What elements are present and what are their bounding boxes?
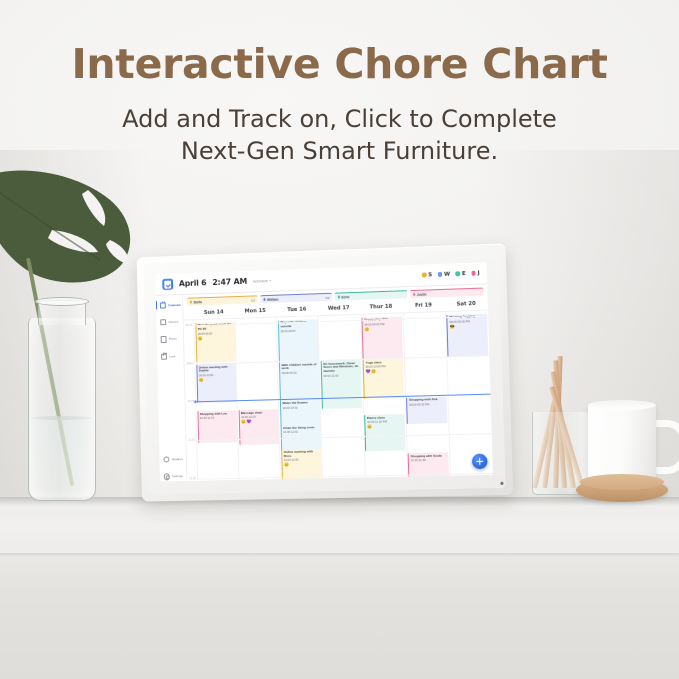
day-column-0[interactable]: Mow the yard, wash the PC-8608:00-09:00😊… xyxy=(193,319,238,481)
member-chip-name: William xyxy=(267,297,278,301)
day-column-2[interactable]: Play with children outside08:00-09:00Wit… xyxy=(276,316,322,479)
member-chip-justin[interactable]: Justin xyxy=(410,288,483,299)
time-label-3: 11:00 xyxy=(189,439,195,442)
event-title: Do housework: Clean floors and Windows, … xyxy=(323,361,359,374)
chevron-down-icon xyxy=(269,280,271,281)
smart-display-device: April 6 2:47 AM Schedule SWEJ CalendarCh… xyxy=(137,243,514,501)
event-time: 09:00-11:00 xyxy=(324,374,360,378)
event-time: 08:00-09:00 xyxy=(281,329,317,334)
sidebar-item-label: Calendar xyxy=(168,303,181,307)
day-header-5[interactable]: Fri 19 xyxy=(402,299,445,312)
basket-icon xyxy=(160,319,166,325)
marketing-subline: Add and Track on, Click to Complete Next… xyxy=(0,104,679,167)
calendar-event[interactable]: Yoga class09:00-10:00 PM💜😊 xyxy=(363,359,404,399)
calendar-event[interactable]: Morning Jogging08:00-09:00 PM😎 xyxy=(447,314,489,357)
app-body: CalendarChoresPhotoListsWeatherSettings … xyxy=(156,284,493,481)
calendar-event[interactable]: Mow the yard, wash the PC-8608:00-09:00😊 xyxy=(195,322,235,363)
calendar-event[interactable]: Massage chair10:30-11:00😊💜 xyxy=(238,409,278,445)
sidebar-item-label: Photo xyxy=(169,337,177,341)
sidebar-spacer xyxy=(157,369,185,447)
photo-icon xyxy=(161,336,167,342)
avatar-s[interactable]: S xyxy=(422,272,432,278)
app-main: Stella1/2William1/2EchoJustin Sun 14Mon … xyxy=(183,284,493,481)
member-chip-echo[interactable]: Echo xyxy=(335,290,407,301)
event-emoji-icon: 😊💜 xyxy=(241,419,276,424)
sidebar-item-settings[interactable]: Settings xyxy=(160,472,187,482)
calendar-check-app-icon[interactable] xyxy=(162,279,173,290)
event-time: 09:00-09:30 xyxy=(282,371,318,375)
vase-rim xyxy=(35,297,89,306)
member-chip-name: Justin xyxy=(417,292,427,296)
event-time: 09:00-09:30 PM xyxy=(409,403,445,407)
lock-list-icon xyxy=(161,353,167,359)
view-selector-label: Schedule xyxy=(253,279,268,283)
day-column-6[interactable]: Morning Jogging08:00-09:00 PM😎 xyxy=(445,310,493,475)
calendar-event[interactable]: Shopping with Ana09:00-09:30 PM xyxy=(406,397,447,424)
avatar-w[interactable]: W xyxy=(438,271,450,277)
sidebar-item-label: Settings xyxy=(172,474,183,478)
calendar-event[interactable]: Online meeting with Sophie09:00-10:00😊 xyxy=(196,364,236,403)
avatar-initial: W xyxy=(444,271,450,277)
calendar-grid: 08:0009:0010:0011:0012:00 Mow the yard, … xyxy=(184,310,493,481)
member-dot-icon xyxy=(263,298,265,300)
calendar-event[interactable]: Play with children outside08:00-09:00 xyxy=(278,319,319,362)
avatar-initial: S xyxy=(428,272,432,278)
event-emoji-icon: 😊 xyxy=(198,335,233,340)
event-time: 10:30-11:00 xyxy=(283,430,319,434)
event-emoji-icon: 😊 xyxy=(199,377,234,382)
sidebar-item-label: Weather xyxy=(172,457,183,461)
time-label-0: 08:00 xyxy=(186,323,193,326)
day-column-5[interactable]: Shopping with Ana09:00-09:30 PMShopping … xyxy=(402,312,449,477)
day-header-2[interactable]: Tue 16 xyxy=(276,303,318,316)
avatar-dot-icon xyxy=(471,271,476,276)
avatar-dot-icon xyxy=(438,272,443,277)
gear-icon xyxy=(164,473,170,479)
product-lifestyle-scene: Interactive Chore Chart Add and Track on… xyxy=(0,0,679,679)
calendar-app: April 6 2:47 AM Schedule SWEJ CalendarCh… xyxy=(155,262,493,481)
time-label-4: 12:00 xyxy=(189,478,196,481)
event-emoji-icon: 😊 xyxy=(365,326,401,331)
member-dot-icon xyxy=(413,293,415,295)
member-chip-progress: 1/2 xyxy=(325,295,329,299)
day-header-3[interactable]: Wed 17 xyxy=(318,302,360,315)
avatar-j[interactable]: J xyxy=(471,270,480,276)
avatar-dot-icon xyxy=(422,273,427,278)
marketing-headline: Interactive Chore Chart xyxy=(0,40,679,88)
avatar-e[interactable]: E xyxy=(456,271,466,277)
sidebar-item-weather[interactable]: Weather xyxy=(159,454,186,464)
event-emoji-icon: 😎 xyxy=(450,324,487,329)
calendar-event[interactable]: Shopping with Lea10:30-11:00 xyxy=(197,410,237,443)
time-label-1: 09:00 xyxy=(187,362,194,365)
subline-line-1: Add and Track on, Click to Complete xyxy=(122,105,557,133)
sidebar-item-chores[interactable]: Chores xyxy=(156,317,182,327)
current-date: April 6 xyxy=(179,278,207,288)
day-column-1[interactable]: Massage chair10:30-11:00😊💜 xyxy=(235,317,281,480)
member-avatars: SWEJ xyxy=(422,270,480,278)
member-chip-stella[interactable]: Stella1/2 xyxy=(187,295,258,306)
calendar-event[interactable]: With children outside of work09:00-09:30 xyxy=(279,361,320,402)
event-emoji-icon: 😊 xyxy=(284,463,320,468)
sidebar-item-calendar[interactable]: Calendar xyxy=(156,300,182,310)
view-selector[interactable]: Schedule xyxy=(253,278,271,283)
app-sidebar: CalendarChoresPhotoListsWeatherSettings xyxy=(156,295,188,481)
sidebar-item-label: Chores xyxy=(168,320,178,324)
calendar-event[interactable]: Do housework: Clean floors and Windows, … xyxy=(321,360,362,409)
member-dot-icon xyxy=(337,296,339,298)
mug-rim xyxy=(588,400,656,410)
monstera-leaf xyxy=(0,168,142,298)
event-emoji-icon: 😊 xyxy=(367,424,403,429)
member-chip-progress: 1/2 xyxy=(251,298,255,302)
day-column-3[interactable]: Do housework: Clean floors and Windows, … xyxy=(318,314,365,478)
sidebar-item-label: Lists xyxy=(169,354,175,358)
member-chip-name: Stella xyxy=(193,300,202,304)
calendar-event[interactable]: Dance class10:30-11:30 PM😊 xyxy=(364,414,405,450)
calendar-icon xyxy=(160,302,166,308)
day-column-4[interactable]: Puppy play date08:00-09:00 PM😊Yoga class… xyxy=(360,313,407,477)
avatar-initial: J xyxy=(478,270,480,276)
sidebar-item-lists[interactable]: Lists xyxy=(157,351,183,361)
avatar-initial: E xyxy=(462,271,466,277)
device-screen: April 6 2:47 AM Schedule SWEJ CalendarCh… xyxy=(155,262,493,481)
cork-coaster-top xyxy=(580,474,664,490)
sidebar-item-photo[interactable]: Photo xyxy=(157,334,183,344)
camera-indicator-icon xyxy=(500,482,503,485)
event-time: 10:30-11:30 xyxy=(411,459,447,463)
member-dot-icon xyxy=(189,301,191,303)
avatar-dot-icon xyxy=(456,271,461,276)
day-header-4[interactable]: Thur 18 xyxy=(360,301,403,314)
day-columns: Mow the yard, wash the PC-8608:00-09:00😊… xyxy=(193,310,493,480)
calendar-event[interactable]: Puppy play date08:00-09:00 PM😊 xyxy=(362,316,403,359)
glass-vase xyxy=(28,318,96,501)
calendar-event[interactable]: Water the flowers10:00-10:30 xyxy=(280,400,320,426)
event-emoji-icon: 💜😊 xyxy=(366,369,402,374)
event-time: 10:30-11:00 xyxy=(200,416,235,420)
subline-line-2: Next-Gen Smart Furniture. xyxy=(181,137,498,165)
member-chip-name: Echo xyxy=(341,295,349,299)
time-label-2: 10:00 xyxy=(188,400,195,403)
day-header-0[interactable]: Sun 14 xyxy=(193,306,234,319)
desk-front-panel xyxy=(0,556,679,679)
weather-icon xyxy=(163,456,169,462)
current-time: 2:47 AM xyxy=(212,277,247,287)
event-time: 10:00-10:30 xyxy=(283,406,319,410)
member-chip-william[interactable]: William1/2 xyxy=(260,293,332,304)
day-header-1[interactable]: Mon 15 xyxy=(234,305,276,318)
day-header-6[interactable]: Sat 20 xyxy=(445,298,488,311)
